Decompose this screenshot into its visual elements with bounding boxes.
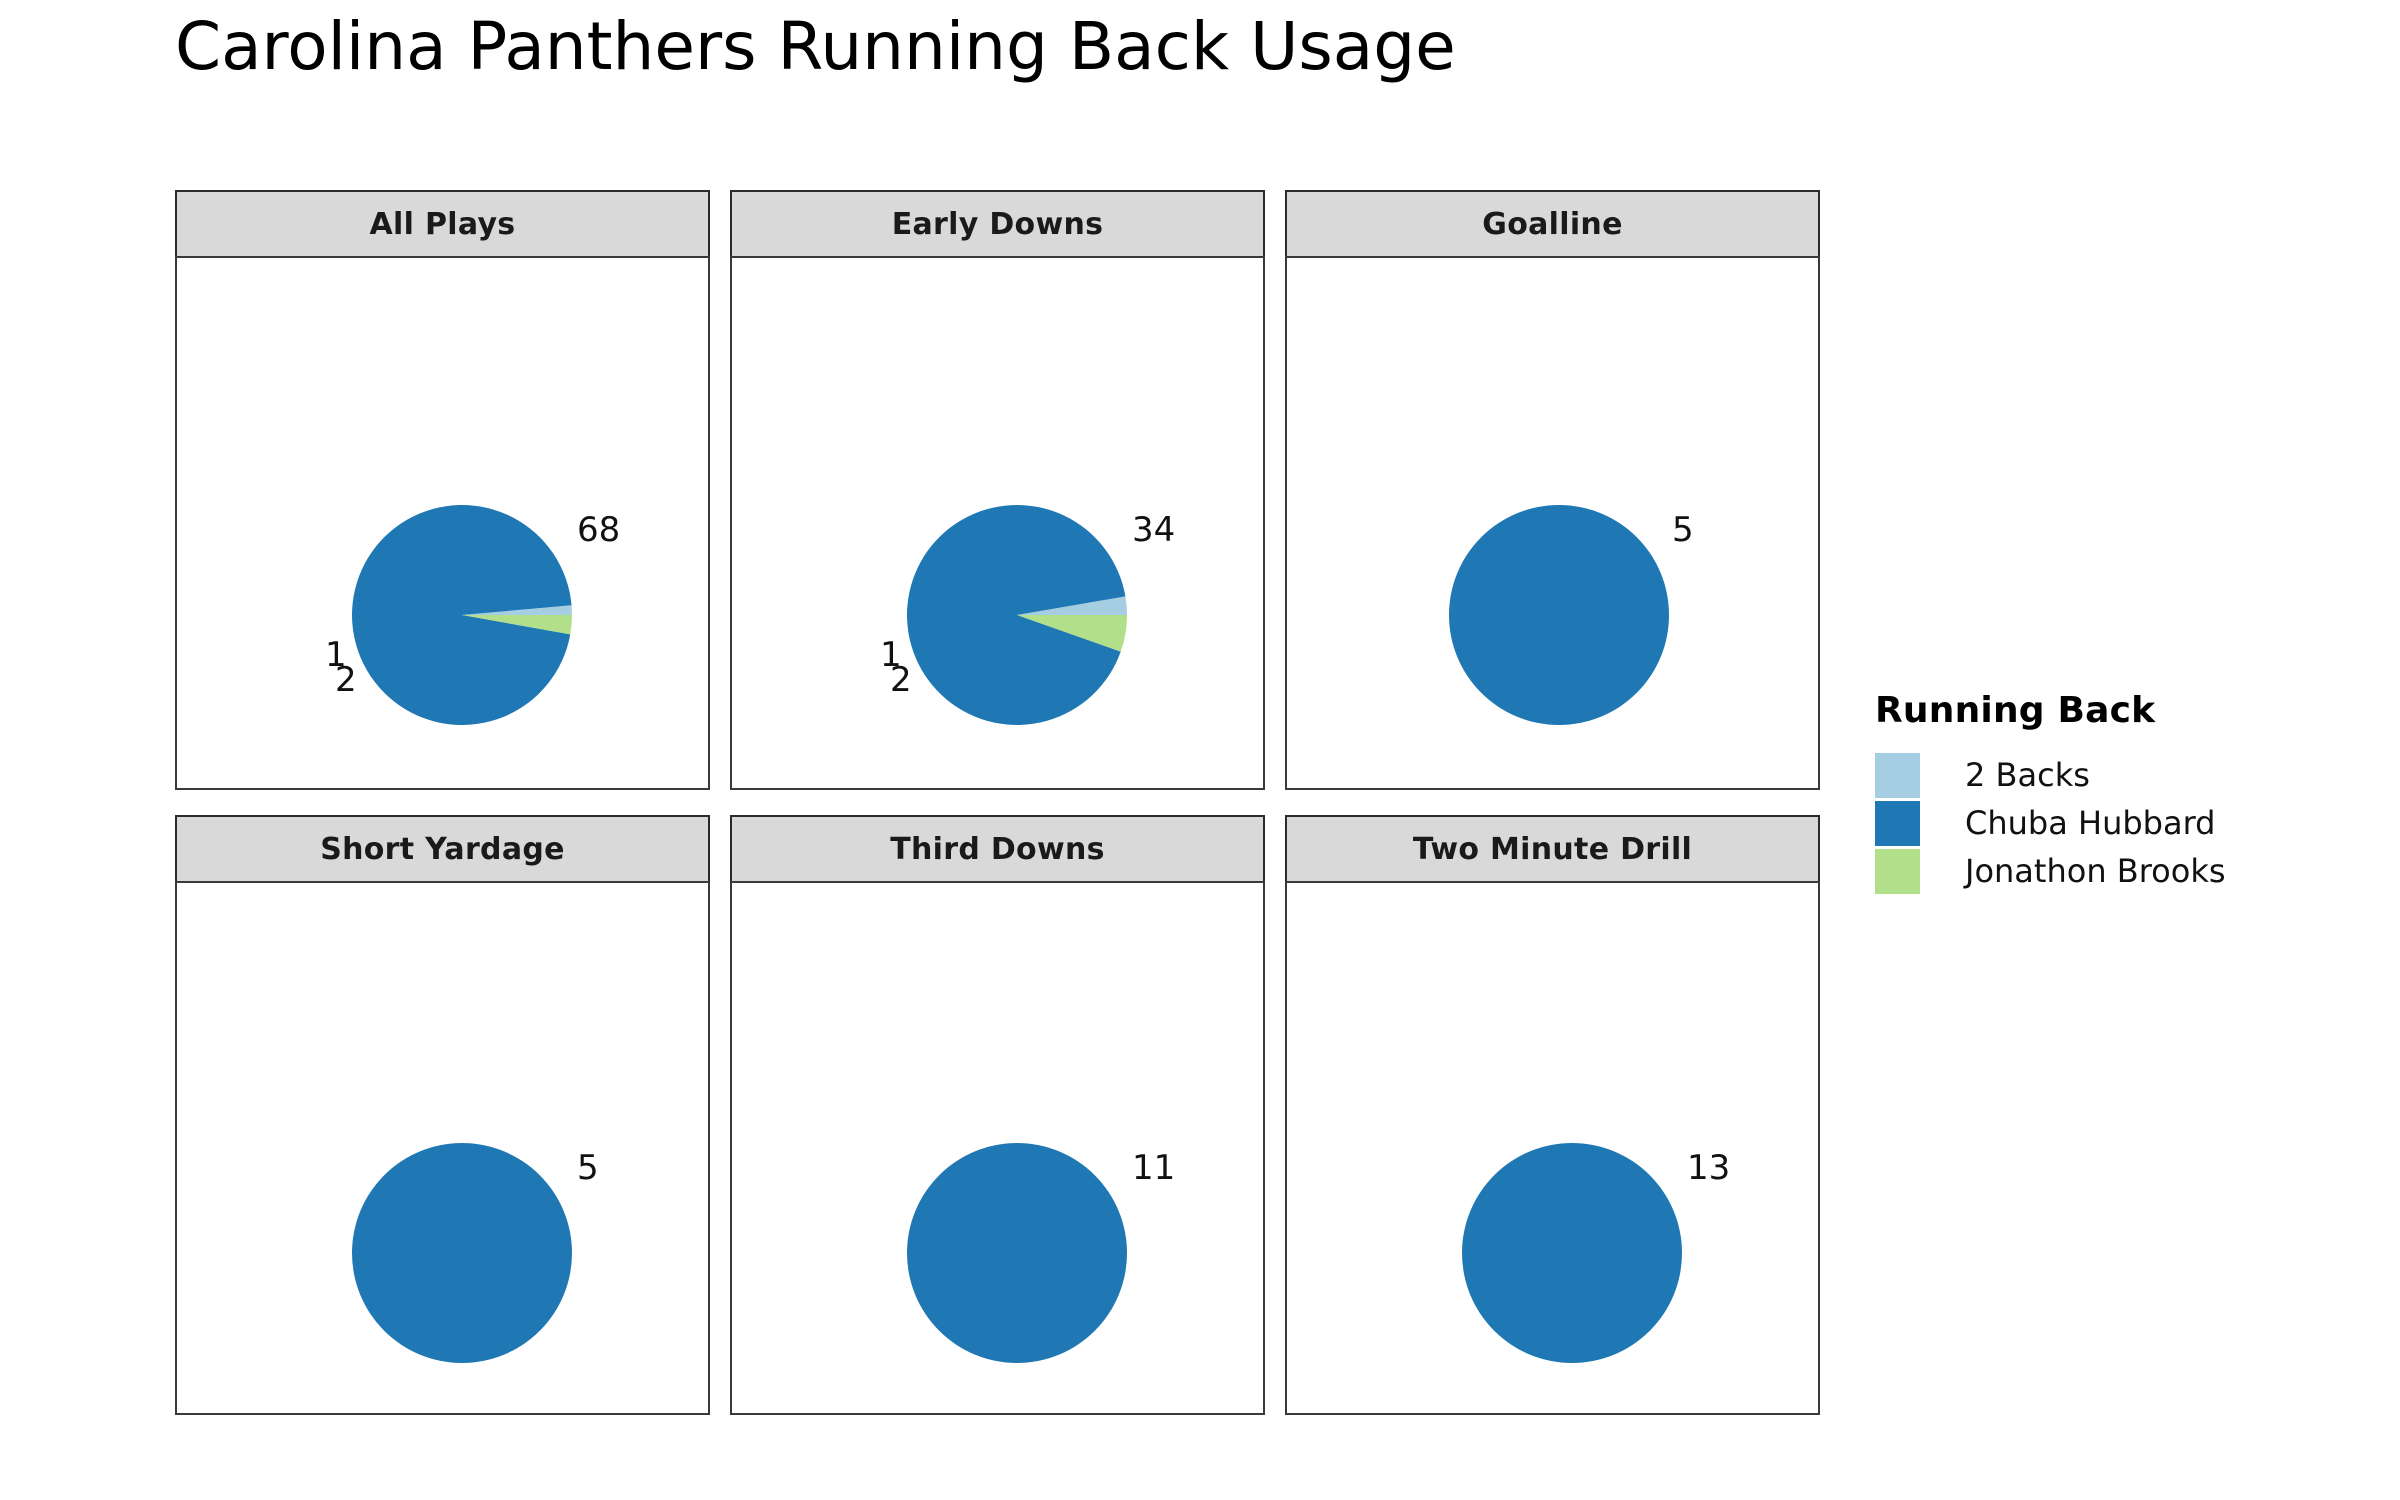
legend-item[interactable]: Chuba Hubbard — [1875, 799, 2226, 847]
facet-panel: Goalline5 — [1285, 190, 1820, 790]
pie-slice-chuba-hubbard[interactable] — [907, 1143, 1127, 1363]
pie-chart — [177, 883, 712, 1415]
facet-panel-title-strip: Goalline — [1285, 190, 1820, 258]
pie-slice-chuba-hubbard[interactable] — [1449, 505, 1669, 725]
pie-chart — [1287, 258, 1822, 790]
pie-value-label-chuba-hubbard: 5 — [1672, 513, 1694, 547]
pie-slice-chuba-hubbard[interactable] — [1462, 1143, 1682, 1363]
facet-panel-title: Two Minute Drill — [1413, 832, 1692, 867]
facet-panel-body: 11 — [730, 881, 1265, 1415]
pie-chart — [1287, 883, 1822, 1415]
pie-value-label-jonathon-brooks: 2 — [335, 663, 357, 697]
legend-swatch-0 — [1875, 753, 1920, 798]
pie-value-label-chuba-hubbard: 13 — [1687, 1151, 1730, 1185]
facet-panel-body: 6812 — [175, 256, 710, 790]
legend-title: Running Back — [1875, 690, 2226, 731]
pie-value-label-chuba-hubbard: 34 — [1132, 513, 1175, 547]
pie-value-label-chuba-hubbard: 11 — [1132, 1151, 1175, 1185]
legend: Running Back 2 BacksChuba HubbardJonatho… — [1875, 690, 2226, 895]
pie-value-label-jonathon-brooks: 2 — [890, 663, 912, 697]
facet-panel: Short Yardage5 — [175, 815, 710, 1415]
facet-panel-title: All Plays — [370, 207, 516, 242]
legend-swatch-2 — [1875, 849, 1920, 894]
facet-panel-title: Short Yardage — [320, 832, 565, 867]
facet-panel-body: 3412 — [730, 256, 1265, 790]
pie-value-label-chuba-hubbard: 5 — [577, 1151, 599, 1185]
facet-panel-title-strip: Third Downs — [730, 815, 1265, 883]
legend-item[interactable]: 2 Backs — [1875, 751, 2226, 799]
facet-panel-title-strip: Two Minute Drill — [1285, 815, 1820, 883]
legend-items: 2 BacksChuba HubbardJonathon Brooks — [1875, 751, 2226, 895]
facet-panel-body: 5 — [175, 881, 710, 1415]
legend-swatch-1 — [1875, 801, 1920, 846]
facet-panel-body: 13 — [1285, 881, 1820, 1415]
legend-item-label: Jonathon Brooks — [1965, 852, 2226, 890]
facet-panel-title: Early Downs — [892, 207, 1104, 242]
pie-slice-chuba-hubbard[interactable] — [352, 1143, 572, 1363]
facet-panel-body: 5 — [1285, 256, 1820, 790]
legend-item-label: 2 Backs — [1965, 756, 2090, 794]
facet-panel: All Plays6812 — [175, 190, 710, 790]
facet-panel-title: Third Downs — [890, 832, 1105, 867]
facet-panel-title-strip: Short Yardage — [175, 815, 710, 883]
pie-chart — [732, 883, 1267, 1415]
pie-chart — [177, 258, 712, 790]
pie-value-label-chuba-hubbard: 68 — [577, 513, 620, 547]
facet-panel: Early Downs3412 — [730, 190, 1265, 790]
facet-panel: Third Downs11 — [730, 815, 1265, 1415]
facet-panel-title-strip: All Plays — [175, 190, 710, 258]
facet-panel-title-strip: Early Downs — [730, 190, 1265, 258]
legend-item[interactable]: Jonathon Brooks — [1875, 847, 2226, 895]
pie-chart — [732, 258, 1267, 790]
page-title: Carolina Panthers Running Back Usage — [175, 8, 1456, 85]
facet-panel-title: Goalline — [1482, 207, 1622, 242]
legend-item-label: Chuba Hubbard — [1965, 804, 2215, 842]
facet-panel: Two Minute Drill13 — [1285, 815, 1820, 1415]
